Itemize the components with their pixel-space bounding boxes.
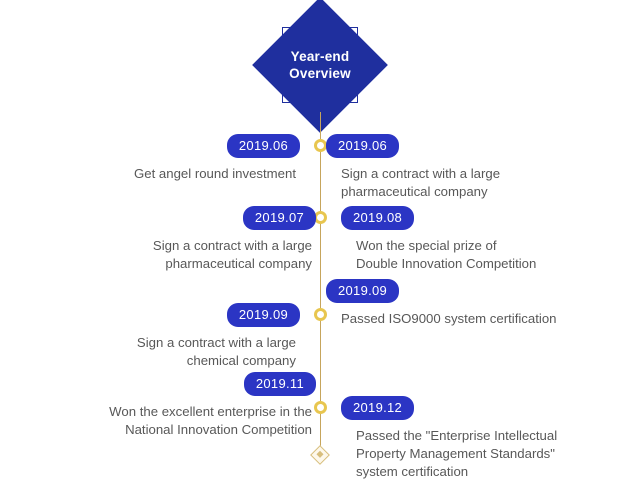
date-badge: 2019.11 [244,372,316,396]
entry-description: Sign a contract with a large pharmaceuti… [341,165,626,201]
entry-description: Sign a contract with a large pharmaceuti… [10,237,312,273]
timeline-node-marker-3[interactable] [314,308,327,321]
entry-description: Passed the "Enterprise Intellectual Prop… [356,427,636,481]
entry-description: Sign a contract with a large chemical co… [10,334,296,370]
page-title: Year-end Overview [260,41,380,89]
timeline-entry-left-1[interactable]: 2019.06 Get angel round investment [10,134,300,183]
date-badge: 2019.09 [326,279,399,303]
date-badge: 2019.09 [227,303,300,327]
timeline-entry-right-3[interactable]: 2019.09 Passed ISO9000 system certificat… [326,279,626,328]
page-title-line-2: Overview [289,65,351,82]
timeline-entry-right-2[interactable]: 2019.08 Won the special prize of Double … [341,206,631,273]
entry-description: Won the excellent enterprise in the Nati… [10,403,312,439]
timeline-entry-right-1[interactable]: 2019.06 Sign a contract with a large pha… [326,134,626,201]
timeline-entry-right-4[interactable]: 2019.12 Passed the "Enterprise Intellect… [341,396,636,481]
timeline-entry-left-3[interactable]: 2019.09 Sign a contract with a large che… [10,303,300,370]
timeline-node-marker-1[interactable] [314,139,327,152]
date-badge: 2019.07 [243,206,316,230]
timeline-entry-left-4[interactable]: 2019.11 Won the excellent enterprise in … [10,372,316,439]
date-badge: 2019.06 [326,134,399,158]
date-badge: 2019.08 [341,206,414,230]
page-title-line-1: Year-end [291,48,350,65]
timeline-entry-left-2[interactable]: 2019.07 Sign a contract with a large pha… [10,206,316,273]
date-badge: 2019.12 [341,396,414,420]
date-badge: 2019.06 [227,134,300,158]
entry-description: Won the special prize of Double Innovati… [356,237,631,273]
timeline-infographic: Year-end Overview 2019.06 Get angel roun… [0,0,641,495]
entry-description: Get angel round investment [10,165,296,183]
entry-description: Passed ISO9000 system certification [341,310,626,328]
axis-end-diamond-icon [310,445,330,465]
